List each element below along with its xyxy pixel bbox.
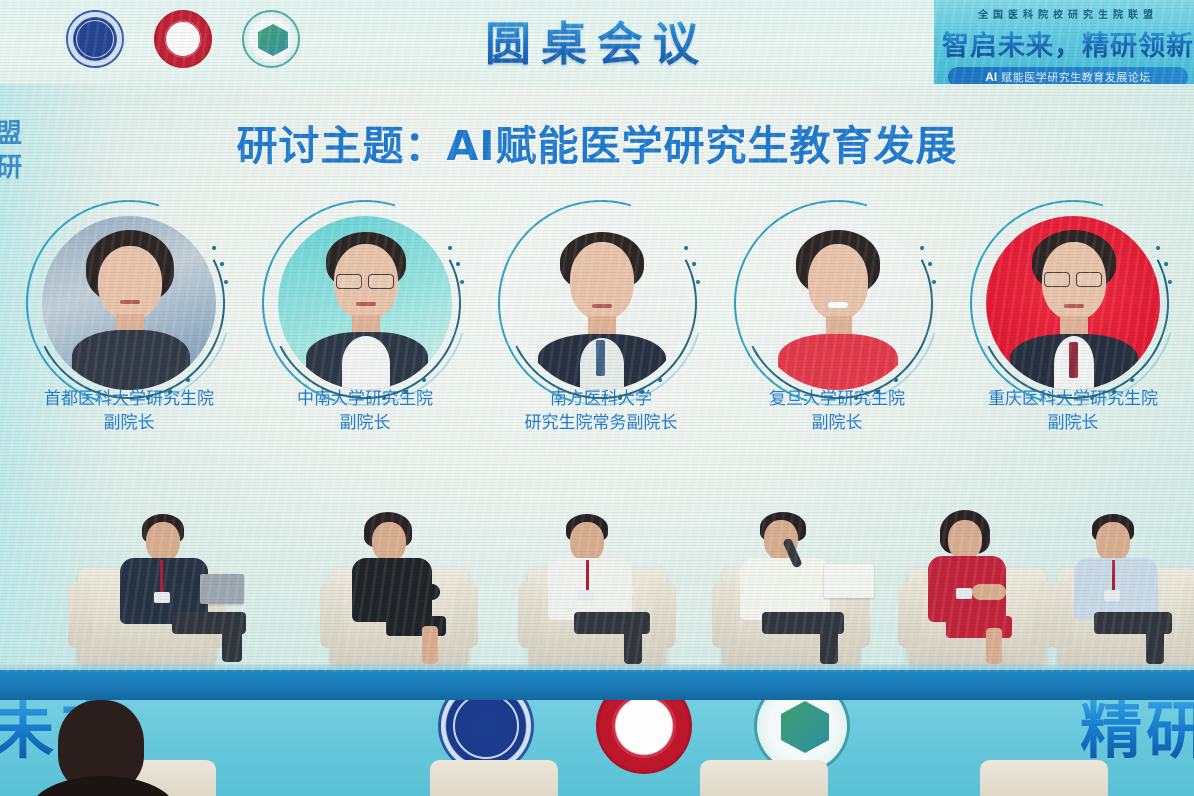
panelist-title: 副院长 (104, 413, 155, 433)
audience-chair-back (700, 760, 828, 796)
stage-panelist-speaking (732, 516, 872, 664)
avatar-photo (514, 216, 688, 390)
audience-chair-back (980, 760, 1108, 796)
stage-panelist (112, 516, 252, 664)
avatar (964, 196, 1182, 339)
panelist-card: 先梦涵 复旦大学研究生院 副院长 (728, 196, 946, 436)
banner-badge-text: 赋能医学研究生教育发展论坛 (1001, 69, 1151, 84)
panelist-card: 马小蕊 首都医科大学研究生院 副院长 (20, 196, 238, 436)
avatar-photo (986, 216, 1160, 390)
avatar-photo (750, 216, 924, 390)
panelist-card: 沈青川 中南大学研究生院 副院长 (256, 196, 474, 436)
audience-chair-back (430, 760, 558, 796)
panelist-title: 研究生院常务副院长 (525, 413, 678, 433)
top-right-banner: 全国医科院校研究生院联盟 智启未来，精研领新 AI 赋能医学研究生教育发展论坛 (934, 0, 1194, 84)
avatar (256, 196, 474, 339)
panelist-row: 马小蕊 首都医科大学研究生院 副院长 (0, 196, 1194, 436)
avatar (728, 196, 946, 339)
stage-panelist (1066, 516, 1192, 664)
avatar-photo (278, 216, 452, 390)
stage-panelist (916, 516, 1042, 664)
avatar-photo (42, 216, 216, 390)
stage-riser (0, 670, 1194, 700)
banner-line2: 智启未来，精研领新 (934, 24, 1194, 63)
panelist-card: 许 瑞 重庆医科大学研究生院 副院长 (964, 196, 1182, 436)
stage-panelist (340, 516, 470, 664)
stage-panelist (538, 516, 668, 664)
panelist-title: 副院长 (812, 413, 863, 433)
panelist-card: 黄文华 南方医科大学 研究生院常务副院长 (492, 196, 710, 436)
page-title: 研讨主题：AI赋能医学研究生教育发展 (0, 112, 1194, 172)
avatar (492, 196, 710, 339)
banner-line1: 全国医科院校研究生院联盟 (934, 6, 1194, 21)
banner-badge: AI 赋能医学研究生教育发展论坛 (948, 67, 1188, 84)
conference-photo: 圆桌会议 全国医科院校研究生院联盟 智启未来，精研领新 AI 赋能医学研究生教育… (0, 0, 1194, 796)
audience-member (58, 700, 144, 792)
panelist-title: 副院长 (340, 413, 391, 433)
avatar (20, 196, 238, 339)
banner-badge-ai: AI (985, 70, 997, 84)
panelist-title: 副院长 (1048, 413, 1099, 433)
